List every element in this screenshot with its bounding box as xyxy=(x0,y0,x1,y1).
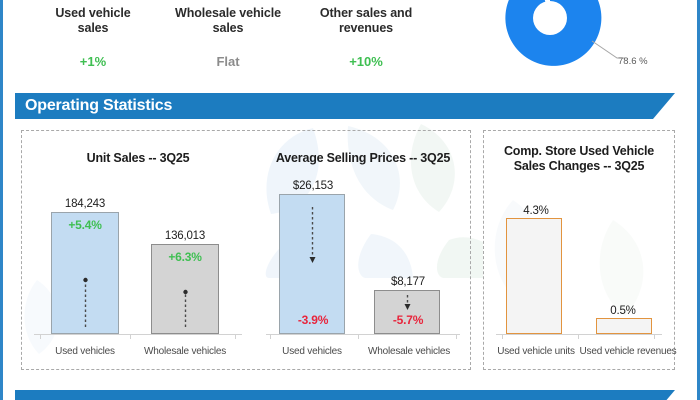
bar-used-vehicle-revenues xyxy=(596,318,652,334)
category-label: Wholesale vehicles xyxy=(360,346,458,357)
bar-change-label: +6.3% xyxy=(140,250,230,264)
metric-label: Wholesale vehicle sales xyxy=(153,6,303,36)
bar-used-vehicle-units xyxy=(506,218,562,334)
report-page: Used vehicle sales +1% Wholesale vehicle… xyxy=(0,0,700,400)
operating-statistics-right-panel: Comp. Store Used Vehicle Sales Changes -… xyxy=(483,130,675,370)
section-banner-title: Operating Statistics xyxy=(15,97,172,115)
metric-value: +1% xyxy=(18,54,168,69)
donut-value-label: 78.6 % xyxy=(618,56,648,67)
axis-tick xyxy=(40,335,41,339)
axis-tick xyxy=(270,335,271,339)
donut-chart xyxy=(498,0,602,70)
bar-value-label: $26,153 xyxy=(268,180,358,192)
bar-value-label: 4.3% xyxy=(498,205,574,217)
operating-statistics-left-panel: Unit Sales -- 3Q25 184,243 +5.4% 136,013… xyxy=(21,130,471,370)
arrow-down-icon xyxy=(308,207,317,265)
arrow-up-icon xyxy=(81,275,90,327)
axis-tick xyxy=(456,335,457,339)
category-label: Used vehicles xyxy=(38,346,132,357)
bar-change-label: +5.4% xyxy=(42,218,128,232)
bar-change-label: -5.7% xyxy=(362,313,454,327)
plot-area: 184,243 +5.4% 136,013 +6.3% Used vehicle… xyxy=(30,167,246,335)
metric-label-line2: sales xyxy=(78,21,109,35)
plot-area: 4.3% 0.5% Used vehicle units Used vehicl… xyxy=(492,185,666,335)
chart-average-selling-prices: Average Selling Prices -- 3Q25 $26,153 -… xyxy=(254,131,472,369)
x-axis-line xyxy=(496,334,662,335)
metric-label-line1: Wholesale vehicle xyxy=(175,6,281,20)
chart-title: Comp. Store Used Vehicle Sales Changes -… xyxy=(484,144,674,174)
x-axis-line xyxy=(266,334,460,335)
metric-other-sales-and-revenues: Other sales and revenues +10% xyxy=(291,6,441,69)
category-label: Wholesale vehicles xyxy=(134,346,236,357)
chart-comp-store-used-vehicle-sales-changes: Comp. Store Used Vehicle Sales Changes -… xyxy=(484,131,674,369)
metric-label-line2: revenues xyxy=(339,21,393,35)
axis-tick xyxy=(130,335,131,339)
metric-wholesale-vehicle-sales: Wholesale vehicle sales Flat xyxy=(153,6,303,69)
section-banner-bottom xyxy=(15,390,675,400)
axis-tick xyxy=(578,335,579,339)
metric-label-line1: Used vehicle xyxy=(55,6,130,20)
bar-value-label: $8,177 xyxy=(362,276,454,288)
axis-tick xyxy=(654,335,655,339)
category-label: Used vehicles xyxy=(266,346,358,357)
bar-value-label: 184,243 xyxy=(42,198,128,210)
metric-label-line2: sales xyxy=(213,21,244,35)
bar-value-label: 0.5% xyxy=(584,305,662,317)
chart-title: Average Selling Prices -- 3Q25 xyxy=(254,151,472,166)
arrow-up-icon xyxy=(181,287,190,327)
chart-title: Unit Sales -- 3Q25 xyxy=(22,151,254,166)
x-axis-line xyxy=(34,334,242,335)
axis-tick xyxy=(235,335,236,339)
section-banner-operating-statistics: Operating Statistics xyxy=(15,93,675,119)
bar-change-label: -3.9% xyxy=(268,313,358,327)
metric-label: Used vehicle sales xyxy=(18,6,168,36)
axis-tick xyxy=(358,335,359,339)
metric-value: Flat xyxy=(153,54,303,69)
category-label: Used vehicle revenues xyxy=(576,346,680,357)
metric-label-line1: Other sales and xyxy=(320,6,412,20)
chart-unit-sales: Unit Sales -- 3Q25 184,243 +5.4% 136,013… xyxy=(22,131,254,369)
plot-area: $26,153 -3.9% $8,177 -5.7% Used vehicles… xyxy=(262,167,464,335)
arrow-down-icon xyxy=(403,295,412,311)
category-label: Used vehicle units xyxy=(490,346,582,357)
chart-title-line1: Comp. Store Used Vehicle xyxy=(504,144,654,158)
bar-value-label: 136,013 xyxy=(140,230,230,242)
axis-tick xyxy=(502,335,503,339)
chart-title-line2: Sales Changes -- 3Q25 xyxy=(514,159,645,173)
top-summary-row: Used vehicle sales +1% Wholesale vehicle… xyxy=(6,0,694,88)
metric-value: +10% xyxy=(291,54,441,69)
metric-label: Other sales and revenues xyxy=(291,6,441,36)
metric-used-vehicle-sales: Used vehicle sales +1% xyxy=(18,6,168,69)
